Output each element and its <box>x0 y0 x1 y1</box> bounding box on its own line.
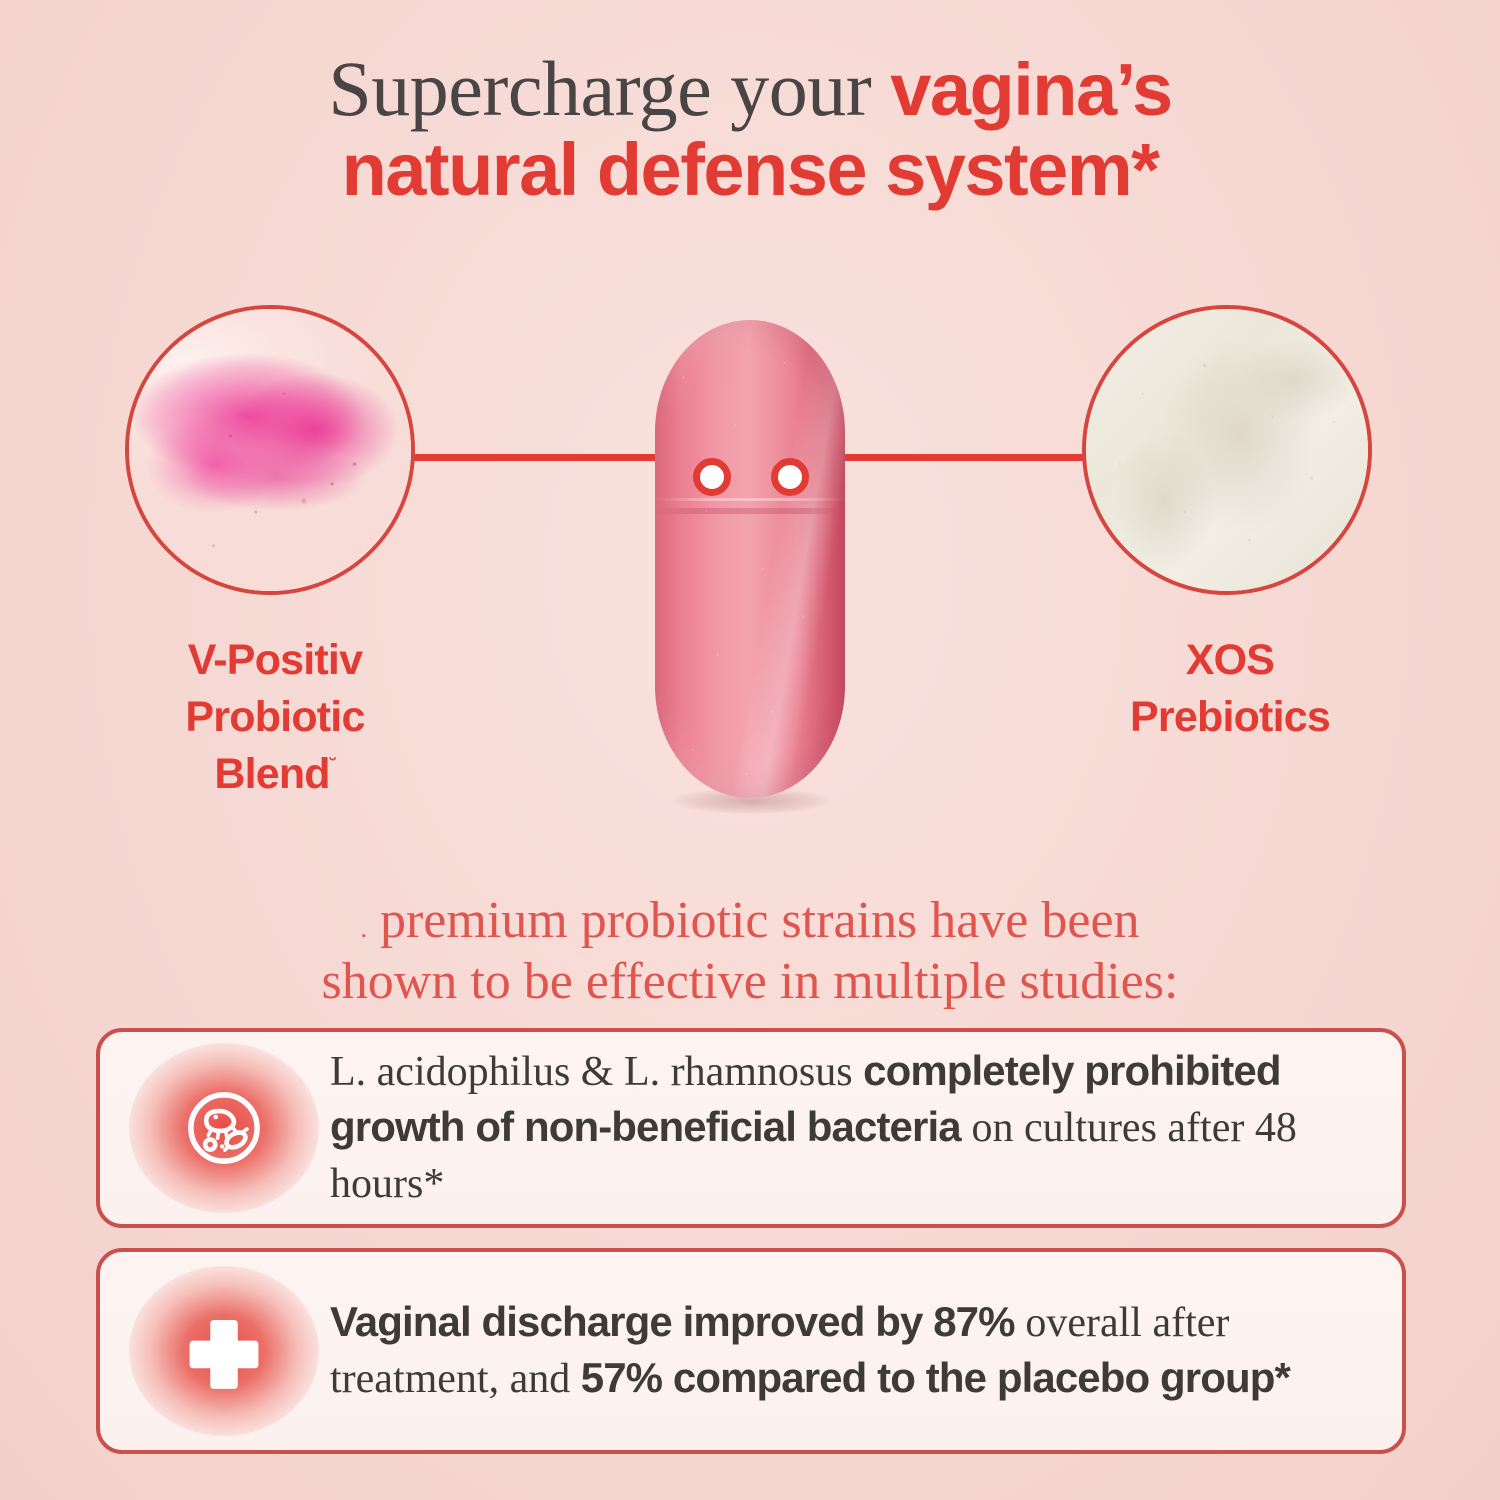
fact-2-seg-3: 57% compared to the placebo group* <box>581 1354 1290 1401</box>
fact-card-1: L. acidophilus & L. rhamnosus completely… <box>96 1028 1406 1228</box>
headline-serif-part: Supercharge your <box>328 45 890 132</box>
ingredient-label-left-line3: Blend <box>214 750 329 798</box>
trademark-mark: ˘ <box>330 755 336 777</box>
capsule-grain <box>655 320 845 798</box>
fact-card-1-text: L. acidophilus & L. rhamnosus completely… <box>324 1044 1368 1211</box>
promo-page: Supercharge your vagina’s natural defens… <box>0 0 1500 1500</box>
headline-red-part-2: natural defense system* <box>342 128 1159 211</box>
prebiotic-powder-photo <box>1082 305 1372 595</box>
ingredient-label-left-line1: V-Positiv <box>85 632 465 689</box>
petri-dish-bacteria-icon <box>178 1082 270 1174</box>
headline-red-part-1: vagina’s <box>890 48 1171 131</box>
fact-card-1-icon-wrap <box>124 1038 324 1218</box>
studies-lead-in: . premium probiotic strains have been sh… <box>0 890 1500 1013</box>
capsule-seam <box>655 508 845 514</box>
prebiotic-texture <box>1086 309 1368 591</box>
callout-dot-left <box>693 458 731 496</box>
ingredient-label-right-line1: XOS <box>1040 632 1420 689</box>
headline-line-1: Supercharge your vagina’s <box>0 48 1500 131</box>
studies-lead-line1: premium probiotic strains have been <box>380 892 1140 949</box>
lead-mark: . <box>360 914 367 943</box>
ingredient-label-left-line2: Probiotic <box>85 689 465 746</box>
medical-cross-icon <box>181 1308 267 1394</box>
fact-card-2-icon-wrap <box>124 1261 324 1441</box>
studies-lead-line2: shown to be effective in multiple studie… <box>0 951 1500 1012</box>
ingredient-label-left: V-Positiv Probiotic Blend˘ <box>85 632 465 802</box>
probiotic-culture-photo <box>125 305 415 595</box>
fact-1-seg-1: L. acidophilus & L. rhamnosus <box>330 1049 863 1095</box>
probiotic-texture <box>129 309 411 591</box>
ingredient-label-right: XOS Prebiotics <box>1040 632 1420 746</box>
ingredient-label-left-line3-wrap: Blend˘ <box>85 746 465 803</box>
fact-2-seg-1: Vaginal discharge improved by 87% <box>330 1298 1025 1345</box>
ingredient-diagram: V-Positiv Probiotic Blend˘ XOS Prebiotic… <box>0 300 1500 820</box>
studies-lead-line1-wrap: . premium probiotic strains have been <box>0 890 1500 951</box>
fact-card-2-text: Vaginal discharge improved by 87% overal… <box>324 1295 1368 1407</box>
fact-card-2: Vaginal discharge improved by 87% overal… <box>96 1248 1406 1454</box>
ingredient-label-right-line2: Prebiotics <box>1040 689 1420 746</box>
callout-dot-right <box>771 458 809 496</box>
headline-line-2: natural defense system* <box>0 131 1500 209</box>
page-title: Supercharge your vagina’s natural defens… <box>0 48 1500 209</box>
pink-capsule-pill <box>655 320 845 798</box>
capsule-cap-edge <box>655 498 845 501</box>
